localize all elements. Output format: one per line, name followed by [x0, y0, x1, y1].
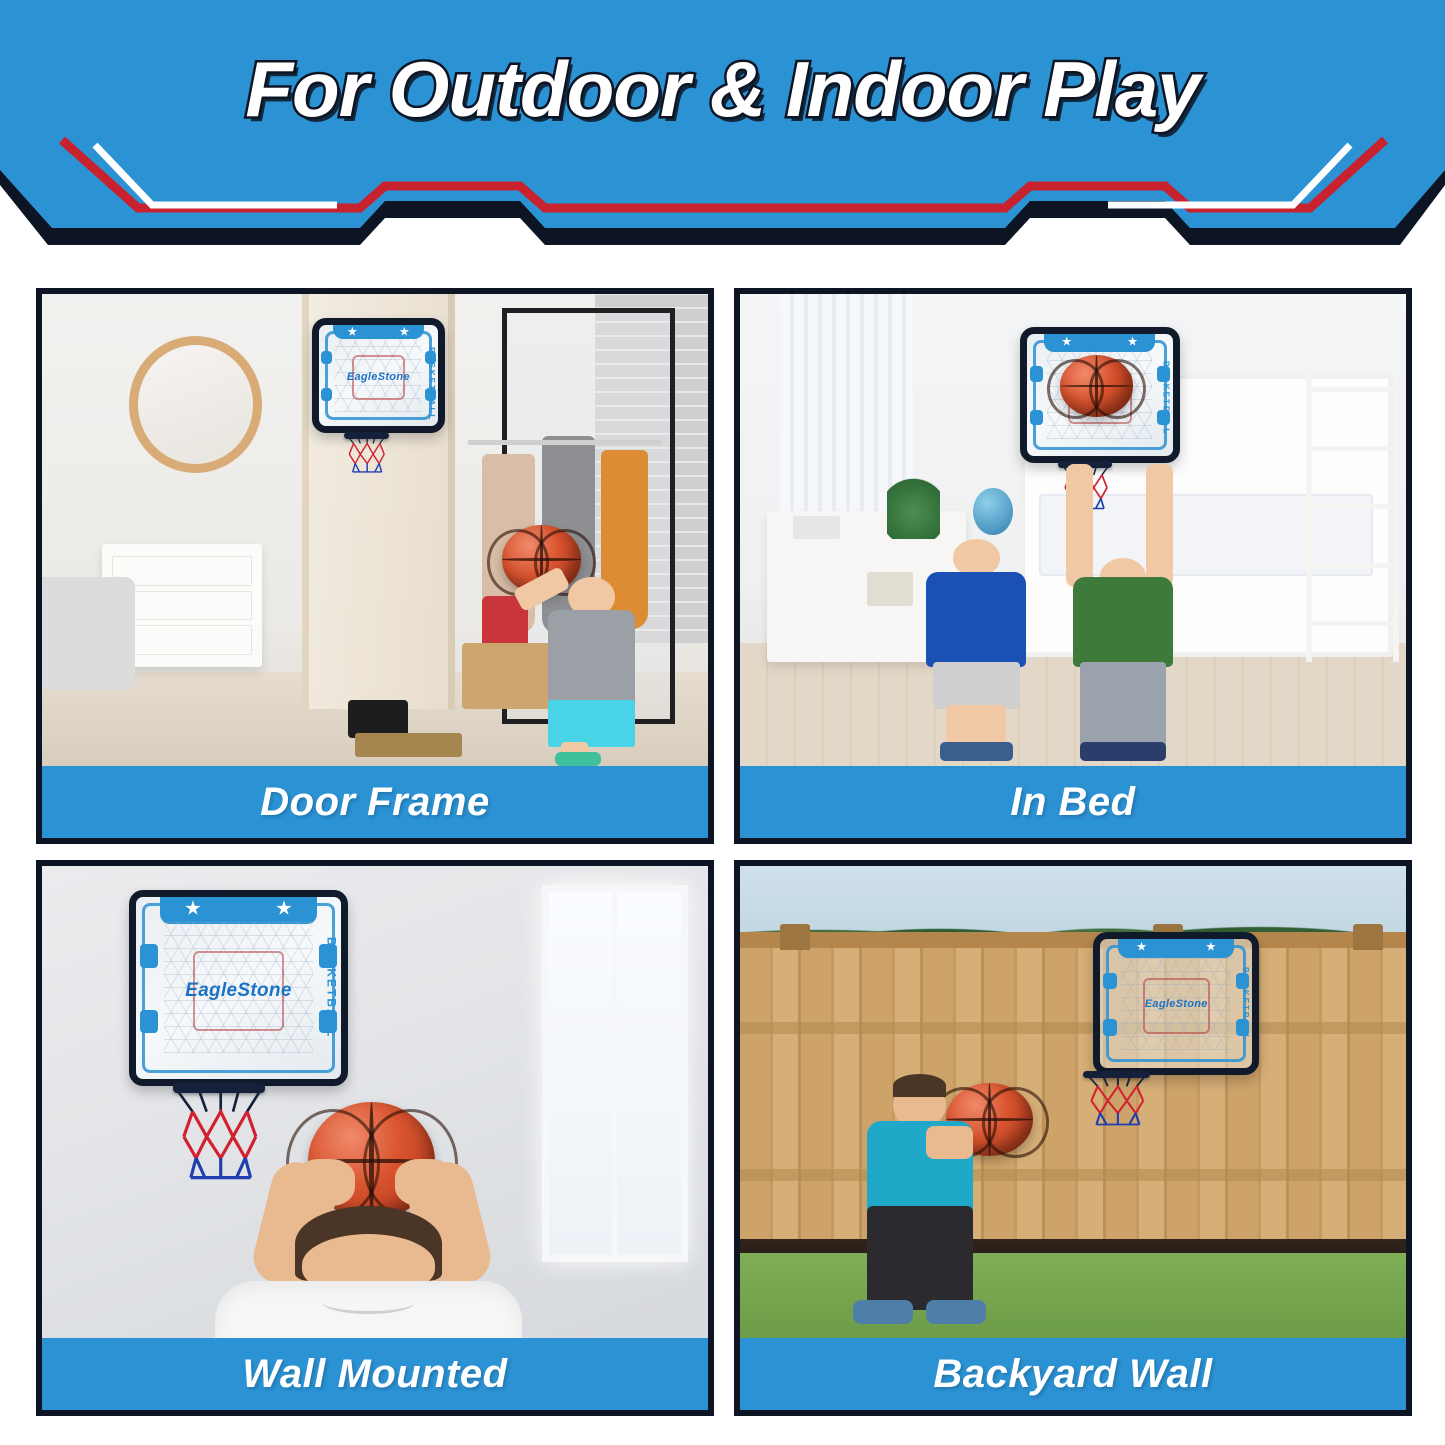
boy-green-arm-right	[1146, 464, 1173, 587]
tab-right-top	[319, 944, 338, 968]
photo-in-bed: EagleStone BASKETBALL	[740, 294, 1406, 766]
tab-left-bottom	[1030, 410, 1043, 426]
tab-left-top	[140, 944, 159, 968]
boy-shorts	[548, 700, 635, 747]
boy-shoe-left	[853, 1300, 913, 1324]
scenario-grid: EagleStone BASKETBALL	[36, 288, 1412, 1416]
caption-text: Backyard Wall	[933, 1352, 1212, 1397]
brand-label: EagleStone	[136, 980, 342, 1002]
scenario-card-in-bed[interactable]: EagleStone BASKETBALL	[734, 288, 1412, 844]
tab-right-top	[425, 351, 436, 364]
boy-torso	[548, 610, 635, 709]
caption-backyard-wall: Backyard Wall	[740, 1338, 1406, 1410]
tab-right-bottom	[1236, 1019, 1250, 1036]
boy-pants	[867, 1206, 974, 1310]
boy-blue-shoes	[940, 742, 1013, 761]
scene-wall: EagleStone BASKETBALL	[42, 866, 708, 1338]
tab-right-bottom	[319, 1010, 338, 1034]
tab-left-bottom	[1103, 1019, 1117, 1036]
net	[345, 435, 388, 474]
scenario-card-backyard-wall[interactable]: EagleStone BASKETBALL	[734, 860, 1412, 1416]
doormat	[355, 733, 462, 757]
caption-wall-mounted: Wall Mounted	[42, 1338, 708, 1410]
ladder-rail	[1306, 370, 1312, 663]
infographic-root: For Outdoor & Indoor Play	[0, 0, 1445, 1445]
tab-left-bottom	[140, 1010, 159, 1034]
round-mirror	[129, 336, 262, 473]
boy-green-torso	[1073, 577, 1173, 667]
scene-bedroom: EagleStone BASKETBALL	[740, 294, 1406, 766]
bed-ladder	[1306, 370, 1399, 663]
window	[542, 885, 689, 1263]
tab-left-top	[321, 351, 332, 364]
scene-backyard: EagleStone BASKETBALL	[740, 866, 1406, 1338]
brand-label: EagleStone	[319, 371, 438, 383]
wood-fence	[740, 946, 1406, 1239]
basketball	[1060, 355, 1133, 416]
fence-rail	[740, 1022, 1406, 1034]
boy-arm	[926, 1126, 973, 1159]
backboard: EagleStone BASKETBALL	[129, 890, 349, 1086]
net	[1085, 1075, 1148, 1127]
potted-plant	[887, 473, 940, 539]
fence-post	[1353, 924, 1383, 950]
photo-backyard-wall: EagleStone BASKETBALL	[740, 866, 1406, 1338]
boy-shoe-right	[926, 1300, 986, 1324]
boy-blue-legs	[946, 705, 1006, 747]
hoop-backyard-wall: EagleStone BASKETBALL	[1093, 932, 1260, 1130]
boy-blue-torso	[926, 572, 1026, 666]
header-banner: For Outdoor & Indoor Play	[0, 0, 1445, 250]
tab-right-bottom	[1157, 410, 1170, 426]
scene-hallway: EagleStone BASKETBALL	[42, 294, 708, 766]
caption-door-frame: Door Frame	[42, 766, 708, 838]
boy-green-shoes	[1080, 742, 1167, 761]
tab-left-top	[1103, 973, 1117, 990]
backboard-top-bar	[333, 323, 424, 339]
photo-door-frame: EagleStone BASKETBALL	[42, 294, 708, 766]
scenario-card-wall-mounted[interactable]: EagleStone BASKETBALL	[36, 860, 714, 1416]
hoop-door-frame: EagleStone BASKETBALL	[312, 318, 445, 478]
boy-shoe	[555, 752, 602, 766]
storage-box	[867, 572, 914, 605]
tab-left-bottom	[321, 388, 332, 401]
boy-green-arm-left	[1066, 464, 1093, 587]
boy-blue-shorts	[933, 662, 1020, 709]
caption-text: Door Frame	[260, 780, 490, 825]
tab-right-top	[1157, 366, 1170, 382]
fence-cap-rail	[740, 932, 1406, 948]
tab-right-bottom	[425, 388, 436, 401]
caption-text: In Bed	[1010, 780, 1135, 825]
caption-in-bed: In Bed	[740, 766, 1406, 838]
backboard: EagleStone BASKETBALL	[312, 318, 445, 434]
backboard-top-bar	[1044, 332, 1155, 352]
fence-post	[780, 924, 810, 950]
boots	[348, 700, 408, 738]
sofa	[42, 577, 135, 690]
boy-hair	[893, 1074, 946, 1098]
ladder-rail	[1393, 370, 1399, 663]
coat-hooks-rail	[468, 440, 661, 445]
laptop	[793, 516, 840, 540]
backboard-top-bar	[1118, 937, 1234, 958]
photo-wall-mounted: EagleStone BASKETBALL	[42, 866, 708, 1338]
brand-label: EagleStone	[1100, 998, 1253, 1010]
caption-text: Wall Mounted	[242, 1352, 507, 1397]
page-title: For Outdoor & Indoor Play	[0, 44, 1445, 135]
man-hand-right	[395, 1159, 455, 1206]
tab-right-top	[1236, 973, 1250, 990]
globe	[973, 488, 1013, 535]
man-hand-left	[295, 1159, 355, 1206]
backboard: EagleStone BASKETBALL	[1093, 932, 1260, 1075]
boy-green-pants	[1080, 662, 1167, 752]
tab-left-top	[1030, 366, 1043, 382]
backboard-top-bar	[160, 895, 316, 924]
fence-rail	[740, 1169, 1406, 1181]
scenario-card-door-frame[interactable]: EagleStone BASKETBALL	[36, 288, 714, 844]
net	[175, 1092, 263, 1181]
